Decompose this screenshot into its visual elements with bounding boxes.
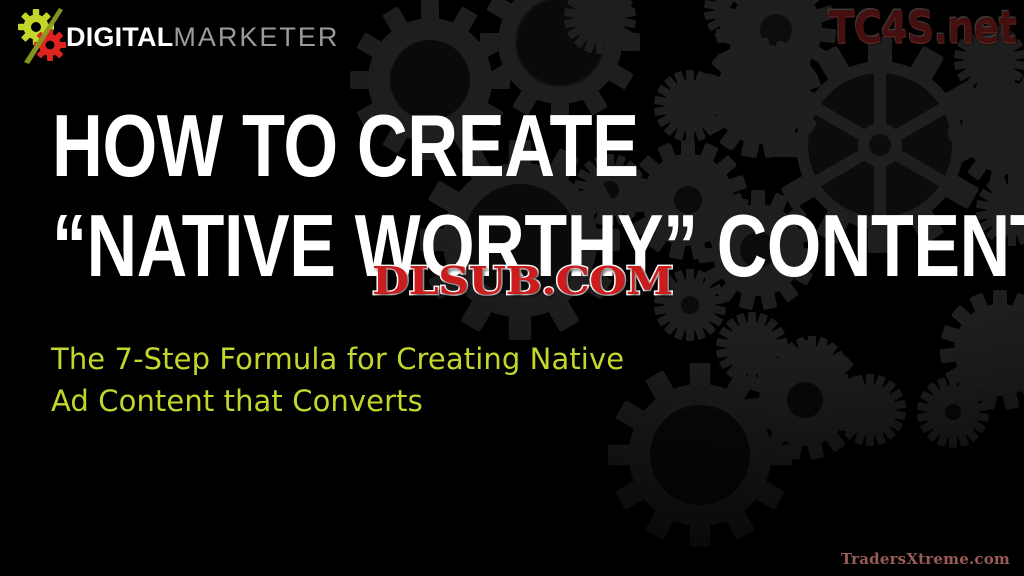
subtitle-line-2: Ad Content that Converts — [51, 380, 624, 422]
slide-subtitle: The 7-Step Formula for Creating Native A… — [51, 338, 624, 422]
watermark-dlsub: DLSUB.COM — [372, 258, 673, 303]
logo-bold-text: DIGITAL — [66, 22, 173, 52]
logo-wordmark: DIGITALMARKETER — [66, 24, 339, 51]
subtitle-line-1: The 7-Step Formula for Creating Native — [51, 338, 624, 380]
watermark-tc4s: TC4S.net — [829, 2, 1016, 54]
headline-line-1: HOW TO CREATE — [52, 104, 804, 188]
watermark-tradersxtreme: TradersXtreme.com — [841, 550, 1010, 568]
logo-light-text: MARKETER — [173, 22, 339, 52]
digitalmarketer-logo[interactable]: DIGITALMARKETER — [14, 8, 339, 64]
presentation-slide: DIGITALMARKETER HOW TO CREATE “NATIVE WO… — [0, 0, 1024, 576]
gears-logo-icon — [14, 8, 72, 64]
